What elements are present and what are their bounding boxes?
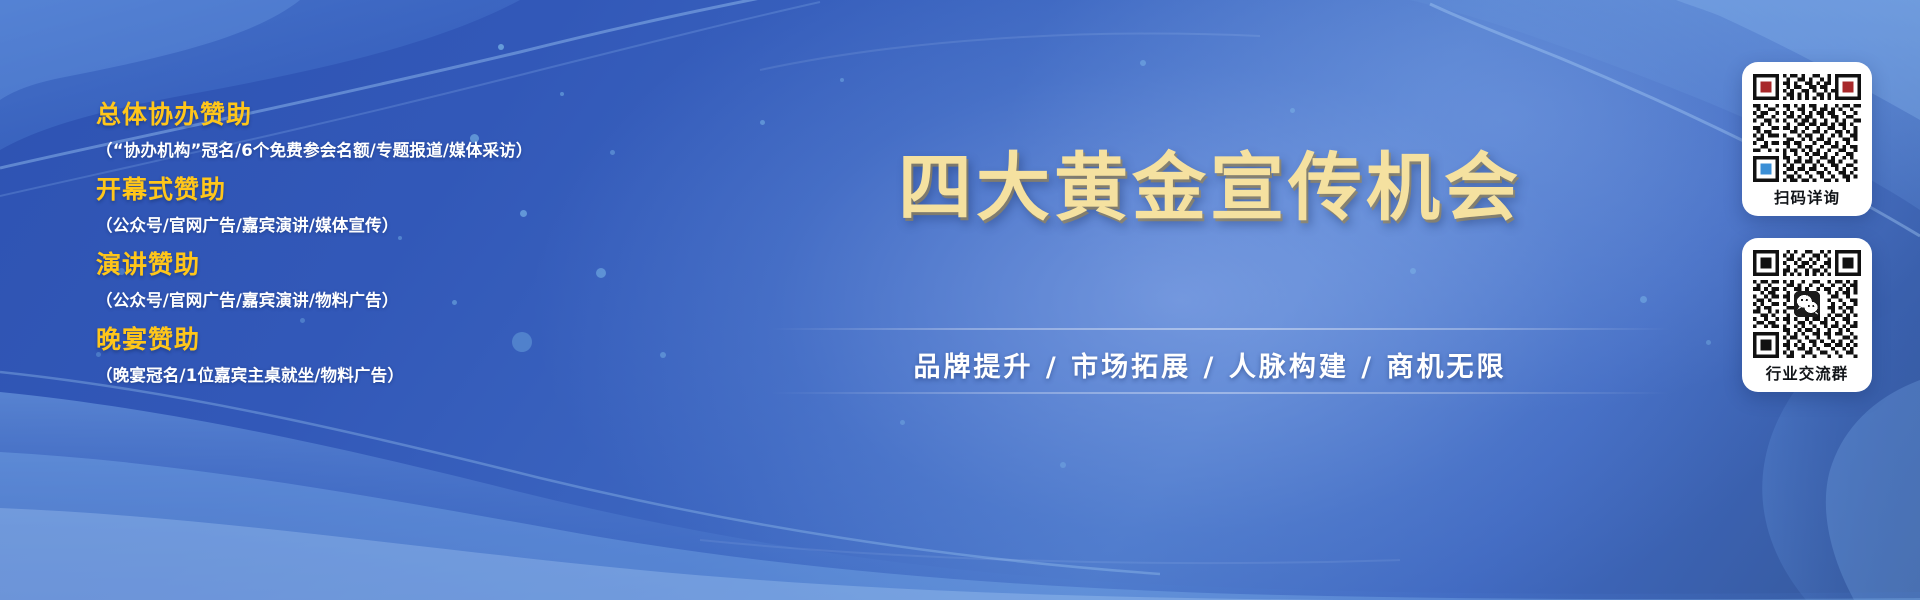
qr-card-community[interactable]: 行业交流群 (1742, 238, 1872, 392)
qr-caption: 行业交流群 (1766, 366, 1849, 383)
sponsorship-title: 演讲赞助 (96, 248, 736, 282)
qr-card-consult[interactable]: 扫码详询 (1742, 62, 1872, 216)
sponsorship-item: 晚宴赞助 （晚宴冠名/1位嘉宾主桌就坐/物料广告） (96, 323, 736, 388)
sponsorship-title: 晚宴赞助 (96, 323, 736, 357)
sponsorship-list: 总体协办赞助 （“协办机构”冠名/6个免费参会名额/专题报道/媒体采访） 开幕式… (96, 98, 736, 398)
qr-code-column: 扫码详询 (1742, 62, 1872, 392)
sponsorship-title: 总体协办赞助 (96, 98, 736, 132)
qr-code-icon[interactable] (1753, 74, 1861, 182)
qr-code-wechat-icon[interactable] (1753, 250, 1861, 358)
sponsorship-detail: （晚宴冠名/1位嘉宾主桌就坐/物料广告） (96, 364, 736, 388)
promo-banner: 总体协办赞助 （“协办机构”冠名/6个免费参会名额/专题报道/媒体采访） 开幕式… (0, 0, 1920, 600)
headline-subtitle: 品牌提升 / 市场拓展 / 人脉构建 / 商机无限 (820, 345, 1600, 384)
headline-title: 四大黄金宣传机会 (820, 148, 1600, 229)
headline-divider-bottom (770, 392, 1670, 394)
sponsorship-detail: （“协办机构”冠名/6个免费参会名额/专题报道/媒体采访） (96, 139, 736, 163)
sponsorship-item: 开幕式赞助 （公众号/官网广告/嘉宾演讲/媒体宣传） (96, 173, 736, 238)
sponsorship-detail: （公众号/官网广告/嘉宾演讲/媒体宣传） (96, 214, 736, 238)
headline-divider-top (770, 328, 1670, 330)
qr-caption: 扫码详询 (1774, 190, 1840, 207)
sponsorship-item: 总体协办赞助 （“协办机构”冠名/6个免费参会名额/专题报道/媒体采访） (96, 98, 736, 163)
sponsorship-item: 演讲赞助 （公众号/官网广告/嘉宾演讲/物料广告） (96, 248, 736, 313)
headline-block: 四大黄金宣传机会 (820, 148, 1600, 229)
sponsorship-detail: （公众号/官网广告/嘉宾演讲/物料广告） (96, 289, 736, 313)
sponsorship-title: 开幕式赞助 (96, 173, 736, 207)
